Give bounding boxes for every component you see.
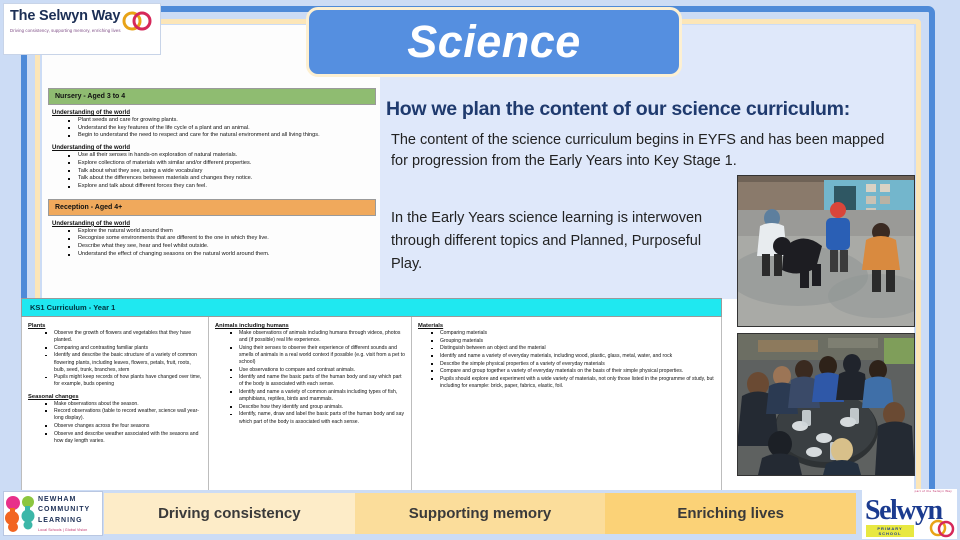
footer-segment-supporting-memory: Supporting memory [355,493,606,534]
list-item: Talk about what they see, using a wide v… [78,168,372,176]
list-item: Describe what they see, hear and feel wh… [78,243,372,251]
right-column-paragraph-2: In the Early Years science learning is i… [391,207,731,277]
interlocking-rings-icon [121,11,153,31]
section-heading: Understanding of the world [52,221,372,227]
reception-band-header: Reception - Aged 4+ [48,199,376,216]
list-item: Explore the natural world around them [78,228,372,236]
list-item: Explore and talk about different forces … [78,183,372,191]
section-list: Plant seeds and care for growing plants.… [52,117,372,140]
footer-segment-driving-consistency: Driving consistency [104,493,355,534]
list-item: Compare and group together a variety of … [440,368,716,375]
selwyn-footer-subtitle: PRIMARY SCHOOL [866,525,914,537]
page-title: Science [407,16,581,68]
ks1-column-plants: Plants Observe the growth of flowers and… [22,317,209,494]
list-item: Grouping materials [440,338,716,345]
list-item: Describe how they identify and group ani… [239,404,406,411]
footer-segment-enriching-lives: Enriching lives [605,493,856,534]
newham-logo-line-3: LEARNING [38,516,90,526]
list-item: Describe the simple physical properties … [440,361,716,368]
list-item: Distinguish between an object and the ma… [440,345,716,352]
section-list: Use all their senses in hands-on explora… [52,152,372,191]
selwyn-footer-top-text: part of the Selwyn Way [862,489,952,493]
section-list: Make observations about the season. Reco… [28,401,203,445]
ks1-column-animals-including-humans: Animals including humans Make observatio… [209,317,412,494]
list-item: Identify and describe the basic structur… [54,352,203,373]
ks1-band-header: KS1 Curriculum - Year 1 [21,298,722,317]
section-list: Comparing materials Grouping materials D… [418,330,716,390]
nursery-band-header: Nursery - Aged 3 to 4 [48,88,376,105]
right-column-paragraph-1: The content of the science curriculum be… [391,130,891,172]
ks1-table-body: Plants Observe the growth of flowers and… [21,317,722,495]
photo-children-science-experiment-table [737,333,915,476]
slide-title-banner: Science [306,7,682,77]
section-heading: Plants [28,323,203,329]
list-item: Use all their senses in hands-on explora… [78,152,372,160]
section-list: Observe the growth of flowers and vegeta… [28,330,203,389]
newham-community-learning-logo: NEWHAM COMMUNITY LEARNING Local Schools … [3,491,103,536]
list-item: Identify and name a variety of common an… [239,389,406,403]
nursery-sections: Understanding of the world Plant seeds a… [48,105,376,199]
list-item: Pupils should explore and experiment wit… [440,376,716,390]
right-column-heading: How we plan the content of our science c… [386,98,934,121]
list-item: Explore collections of materials with si… [78,160,372,168]
list-item: Observe and describe weather associated … [54,431,203,445]
ks1-curriculum-table: KS1 Curriculum - Year 1 Plants Observe t… [21,298,722,495]
list-item: Comparing and contrasting familiar plant… [54,345,203,352]
list-item: Plant seeds and care for growing plants. [78,117,372,125]
newham-dots-icon [4,494,38,534]
interlocking-rings-icon [929,518,955,538]
photo-children-playing-in-puddles [737,175,915,327]
list-item: Observe changes across the four seasons [54,423,203,430]
list-item: Record observations (table to record wea… [54,408,203,422]
list-item: Understand the effect of changing season… [78,251,372,259]
list-item: Talk about the differences between mater… [78,175,372,183]
list-item: Make observations of animals including h… [239,330,406,344]
list-item: Identify, name, draw and label the basic… [239,411,406,425]
list-item: Identify and name the basic parts of the… [239,374,406,388]
newham-logo-text: NEWHAM COMMUNITY LEARNING Local Schools … [38,495,90,531]
newham-logo-tagline: Local Schools | Global Vision [38,528,90,532]
list-item: Use observations to compare and contrast… [239,367,406,374]
selwyn-primary-school-logo: part of the Selwyn Way Selwyn PRIMARY SC… [862,489,957,539]
list-item: Identify and name a variety of everyday … [440,353,716,360]
slide-canvas: Science The Selwyn Way Driving consisten… [0,0,960,540]
list-item: Observe the growth of flowers and vegeta… [54,330,203,344]
eyfs-curriculum-table: Nursery - Aged 3 to 4 Understanding of t… [48,88,376,267]
selwyn-way-logo: The Selwyn Way Driving consistency, supp… [3,3,161,55]
section-heading: Understanding of the world [52,110,372,116]
section-heading: Materials [418,323,716,329]
section-list: Make observations of animals including h… [215,330,406,426]
reception-sections: Understanding of the world Explore the n… [48,216,376,267]
ks1-column-materials: Materials Comparing materials Grouping m… [412,317,721,494]
footer-values-bar: Driving consistency Supporting memory En… [104,493,856,534]
list-item: Pupils might keep records of how plants … [54,374,203,388]
newham-logo-line-1: NEWHAM [38,495,90,505]
list-item: Understand the key features of the life … [78,125,372,133]
newham-logo-line-2: COMMUNITY [38,505,90,515]
list-item: Using their senses to observe their expe… [239,345,406,366]
list-item: Make observations about the season. [54,401,203,408]
list-item: Begin to understand the need to respect … [78,132,372,140]
list-item: Recognise some environments that are dif… [78,235,372,243]
list-item: Comparing materials [440,330,716,337]
section-heading: Understanding of the world [52,145,372,151]
section-heading: Seasonal changes [28,394,203,400]
section-list: Explore the natural world around them Re… [52,228,372,259]
section-heading: Animals including humans [215,323,406,329]
